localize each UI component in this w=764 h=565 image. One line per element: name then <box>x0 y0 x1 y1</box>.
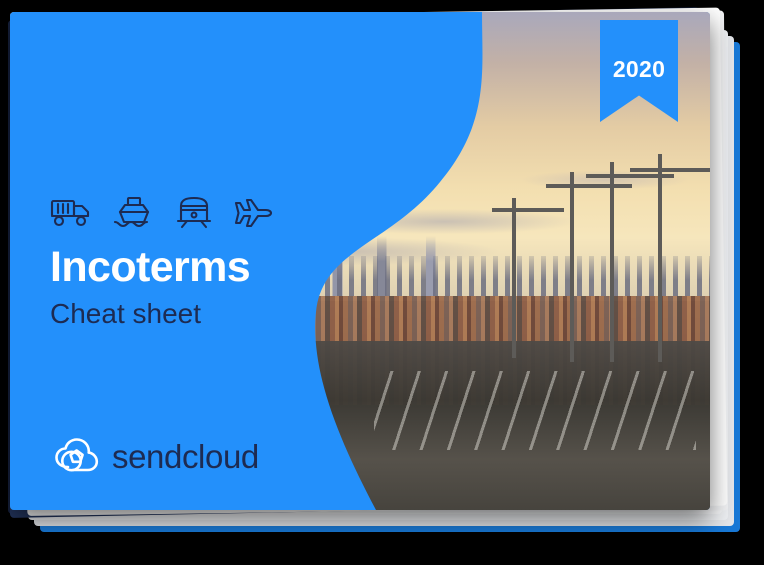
page-title: Incoterms <box>50 246 250 289</box>
sendcloud-cloud-icon <box>54 437 100 475</box>
photo-road-markings <box>374 371 696 451</box>
transport-icon-row <box>50 196 274 230</box>
ship-icon <box>114 196 154 230</box>
ebook-cover: Incoterms Cheat sheet sendcloud 2020 <box>10 12 710 510</box>
sendcloud-wordmark: sendcloud <box>112 440 259 473</box>
page-subtitle: Cheat sheet <box>50 300 201 328</box>
cover-content: Incoterms Cheat sheet sendcloud <box>10 12 350 510</box>
airplane-icon <box>234 197 274 229</box>
truck-icon <box>50 197 92 229</box>
screenshot-stage: Incoterms Cheat sheet sendcloud 2020 <box>0 0 764 565</box>
year-ribbon-label: 2020 <box>613 56 665 83</box>
train-icon <box>176 196 212 230</box>
sendcloud-logo: sendcloud <box>54 437 259 475</box>
